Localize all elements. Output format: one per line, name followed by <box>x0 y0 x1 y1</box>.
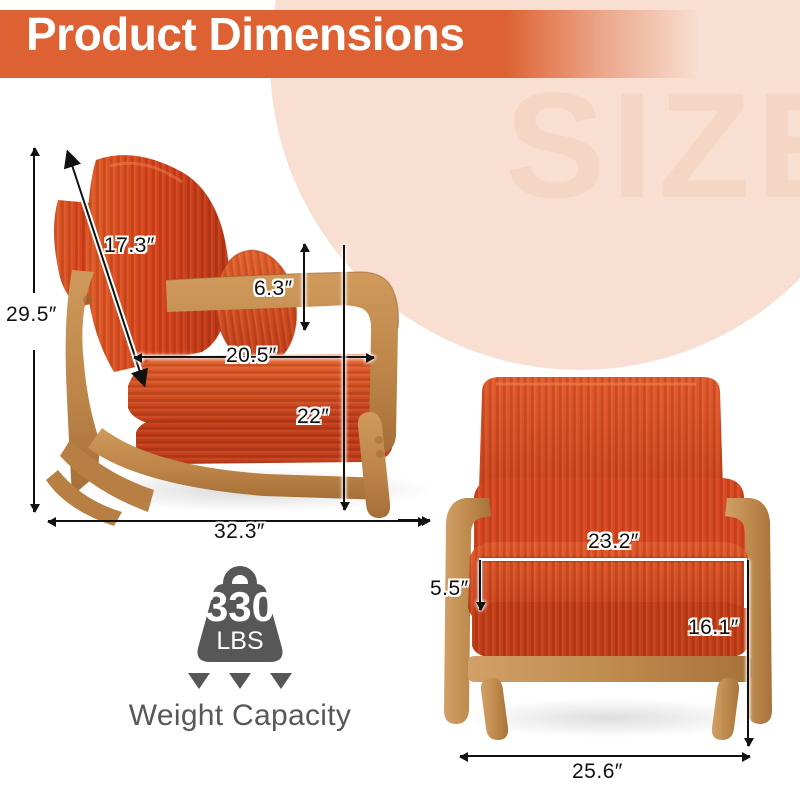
overall-depth-label: 32.3″ <box>214 520 265 544</box>
overall-height-label: 29.5″ <box>6 303 57 327</box>
cushion-thickness-arrow <box>479 560 481 610</box>
seat-width-bracket <box>479 558 747 608</box>
overall-height-arrow-upper <box>33 148 35 293</box>
overall-width-arrow <box>460 755 750 757</box>
armrest-clearance-arrow <box>303 244 305 330</box>
seat-height-label: 16.1″ <box>688 616 739 640</box>
weight-icon: 330 LBS <box>180 560 300 668</box>
cushion-thickness-label: 5.5″ <box>430 577 469 601</box>
weight-unit: LBS <box>180 629 300 654</box>
weight-number: 330 <box>180 586 300 628</box>
backrest-height-arrow <box>60 150 190 390</box>
seat-depth-label: 20.5″ <box>226 344 277 368</box>
infographic-canvas: SIZE Product Dimensions <box>0 0 800 800</box>
weight-capacity-caption: Weight Capacity <box>110 699 370 733</box>
weight-capacity-block: 330 LBS Weight Capacity <box>110 560 370 733</box>
armrest-clearance-label: 6.3″ <box>254 277 293 301</box>
view-connector-arrow <box>398 519 430 521</box>
arm-height-label: 22″ <box>297 405 329 429</box>
arm-height-arrow <box>343 245 345 510</box>
triangle-down-icon <box>188 673 210 689</box>
backrest-height-label: 17.3″ <box>104 234 155 258</box>
seat-height-arrow <box>747 560 749 746</box>
overall-width-label: 25.6″ <box>572 760 623 784</box>
triangle-down-icon <box>229 673 251 689</box>
triangle-down-icon <box>270 673 292 689</box>
weight-down-arrows <box>110 673 370 689</box>
page-title: Product Dimensions <box>26 11 464 57</box>
size-watermark: SIZE <box>505 70 800 220</box>
seat-width-label: 23.2″ <box>588 530 639 554</box>
overall-height-arrow-lower <box>33 350 35 512</box>
